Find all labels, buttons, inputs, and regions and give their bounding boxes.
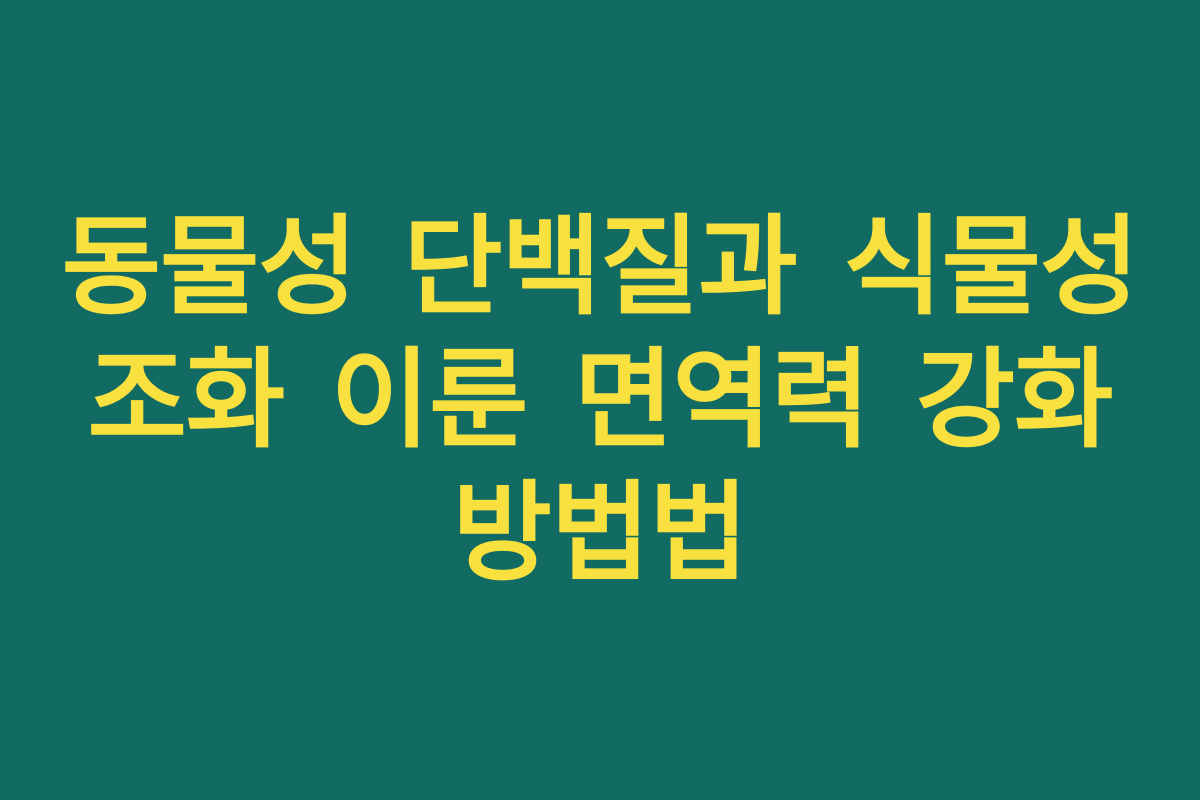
banner-canvas: 동물성 단백질과 식물성 조화 이룬 면역력 강화 방법법 <box>0 0 1200 800</box>
headline-line-2: 조화 이룬 면역력 강화 <box>50 334 1150 467</box>
headline-line-1: 동물성 단백질과 식물성 <box>50 201 1150 334</box>
headline-line-3: 방법법 <box>50 467 1150 600</box>
headline-text: 동물성 단백질과 식물성 조화 이룬 면역력 강화 방법법 <box>50 201 1150 600</box>
